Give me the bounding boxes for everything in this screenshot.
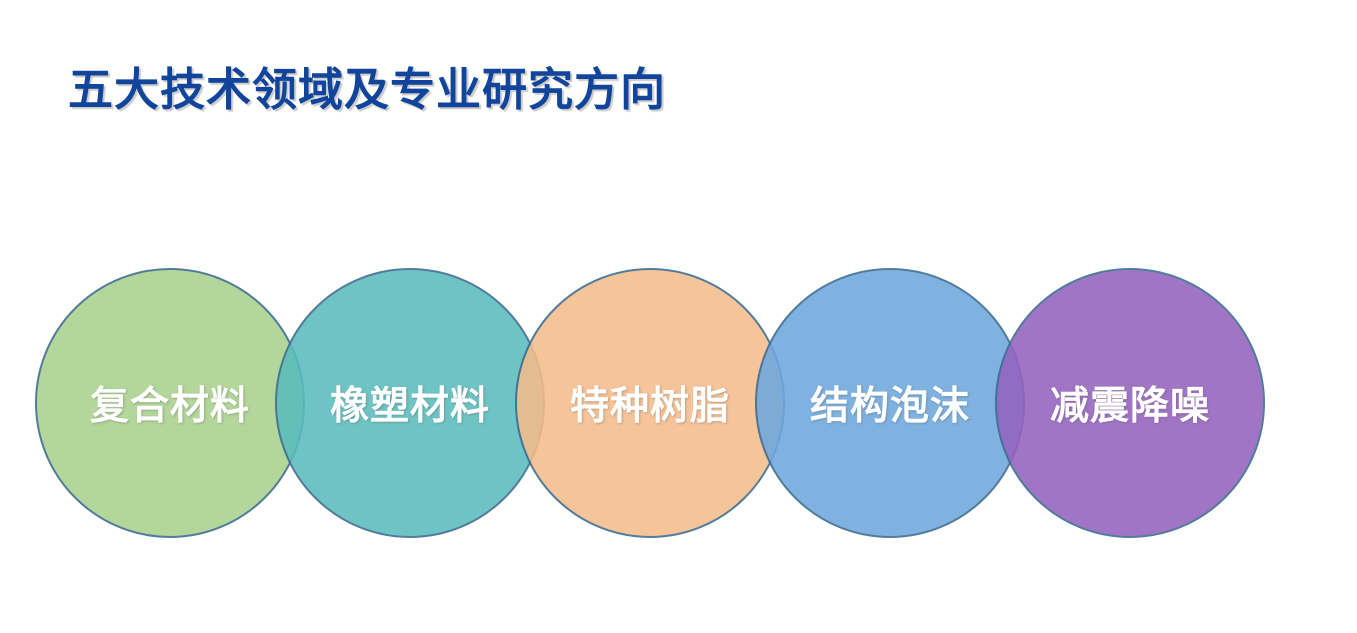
venn-circle-4[interactable] bbox=[755, 268, 1025, 538]
venn-diagram: 复合材料 橡塑材料 特种树脂 结构泡沫 减震降噪 bbox=[0, 0, 1357, 633]
slide-canvas: 五大技术领域及专业研究方向 复合材料 橡塑材料 特种树脂 结构泡沫 减震降噪 bbox=[0, 0, 1357, 633]
venn-circle-2[interactable] bbox=[275, 268, 545, 538]
venn-circle-1[interactable] bbox=[35, 268, 305, 538]
venn-circle-5[interactable] bbox=[995, 268, 1265, 538]
venn-circle-3[interactable] bbox=[515, 268, 785, 538]
